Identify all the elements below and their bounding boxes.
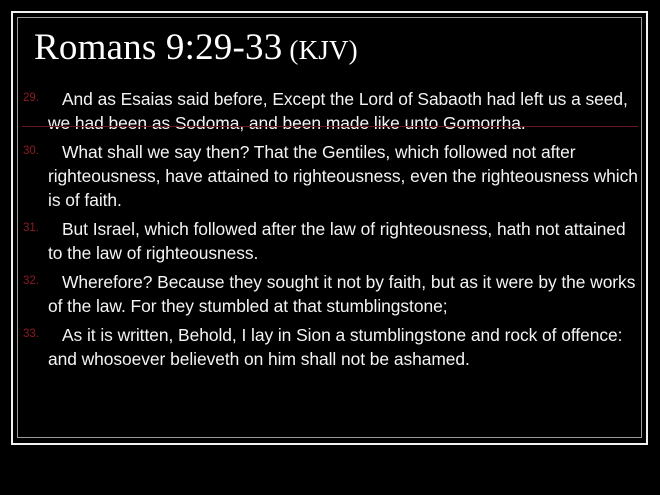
title-translation: (KJV) — [282, 35, 357, 65]
verse-item: 31. But Israel, which followed after the… — [22, 217, 638, 265]
verse-number: 30. — [23, 144, 47, 158]
verse-text: But Israel, which followed after the law… — [48, 219, 626, 263]
verse-text: And as Esaias said before, Except the Lo… — [48, 89, 628, 133]
verse-list: 29. And as Esaias said before, Except th… — [22, 87, 638, 376]
verse-item: 32. Wherefore? Because they sought it no… — [22, 270, 638, 318]
title-reference: Romans 9:29-33 — [34, 27, 282, 68]
verse-item: 29. And as Esaias said before, Except th… — [22, 87, 638, 135]
verse-number: 32. — [23, 274, 47, 288]
verse-item: 33. As it is written, Behold, I lay in S… — [22, 323, 638, 371]
verse-text: What shall we say then? That the Gentile… — [48, 142, 638, 210]
verse-text: Wherefore? Because they sought it not by… — [48, 272, 635, 316]
verse-number: 31. — [23, 221, 47, 235]
slide-title: Romans 9:29-33 (KJV) — [34, 26, 630, 72]
verse-number: 33. — [23, 327, 47, 341]
verse-item: 30. What shall we say then? That the Gen… — [22, 140, 638, 212]
verse-text: As it is written, Behold, I lay in Sion … — [48, 325, 622, 369]
scripture-slide: Romans 9:29-33 (KJV) 29. And as Esaias s… — [0, 0, 660, 495]
verse-number: 29. — [23, 91, 47, 105]
